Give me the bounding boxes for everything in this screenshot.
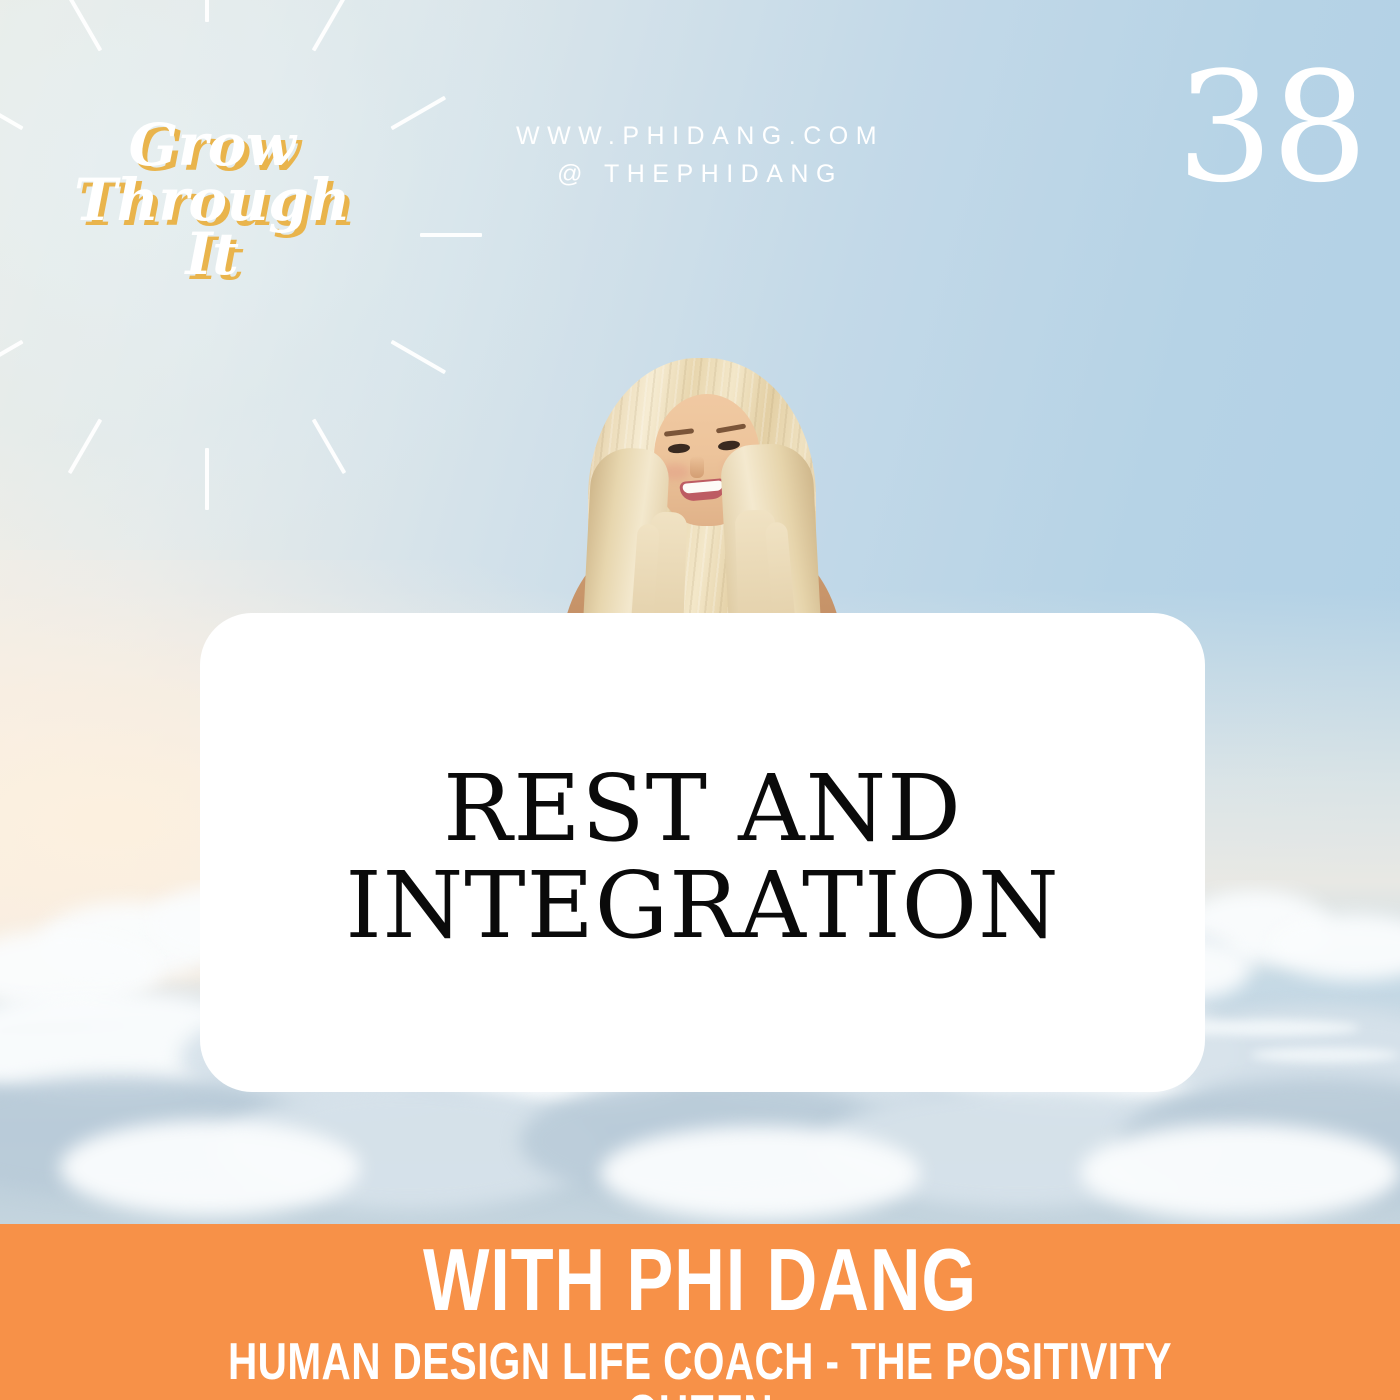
social-handle[interactable]: @ THEPHIDANG <box>380 156 1020 194</box>
episode-title-card: REST AND INTEGRATION <box>200 613 1205 1092</box>
host-name: WITH PHI DANG <box>140 1236 1260 1324</box>
footer-band: WITH PHI DANG HUMAN DESIGN LIFE COACH - … <box>0 1224 1400 1400</box>
wispy-cloud <box>1250 1048 1400 1062</box>
podcast-cover: Grow Through It WWW.PHIDANG.COM @ THEPHI… <box>0 0 1400 1400</box>
wispy-cloud <box>1180 1020 1360 1036</box>
show-logo: Grow Through It <box>62 118 362 282</box>
sun-ray <box>205 0 209 22</box>
episode-number: 38 <box>1177 52 1366 204</box>
episode-title-line-1: REST AND <box>200 761 1205 858</box>
cloud-puff <box>1080 1124 1400 1220</box>
host-role: HUMAN DESIGN LIFE COACH - THE POSITIVITY… <box>154 1336 1246 1400</box>
episode-title: REST AND INTEGRATION <box>200 761 1205 954</box>
show-title-line-3: It <box>62 227 362 282</box>
sun-ray <box>205 448 209 510</box>
show-title-line-2: Through <box>62 173 362 228</box>
contact-info: WWW.PHIDANG.COM @ THEPHIDANG <box>380 118 1020 193</box>
sun-ray <box>420 233 482 237</box>
cloud-puff <box>600 1126 920 1220</box>
nose <box>690 456 704 478</box>
episode-title-line-2: INTEGRATION <box>200 858 1205 955</box>
website-url[interactable]: WWW.PHIDANG.COM <box>380 118 1020 156</box>
cloud-puff <box>60 1120 360 1216</box>
show-title-line-1: Grow <box>62 118 362 173</box>
teeth <box>682 480 723 493</box>
